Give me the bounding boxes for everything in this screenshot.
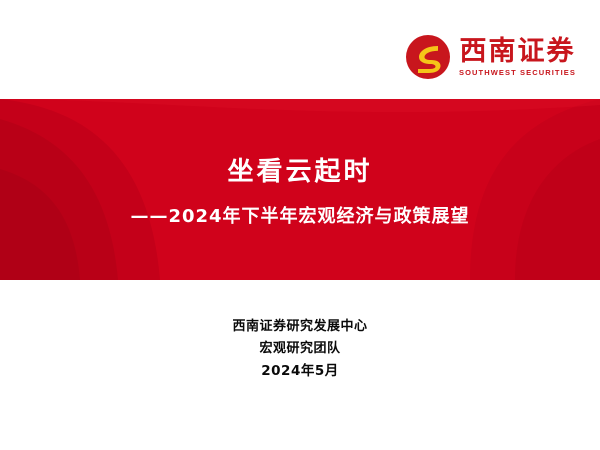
footer-organization: 西南证券研究发展中心 <box>0 316 600 338</box>
banner-decorative-swirls <box>0 99 600 280</box>
slide-subtitle: ——2024年下半年宏观经济与政策展望 <box>0 202 600 228</box>
footer-date: 2024年5月 <box>0 360 600 382</box>
slide-footer: 西南证券研究发展中心 宏观研究团队 2024年5月 <box>0 316 600 382</box>
presentation-cover-slide: 西南证券 SOUTHWEST SECURITIES 坐看云起时 ——2024年下… <box>0 0 600 450</box>
logo-text: 西南证券 SOUTHWEST SECURITIES <box>459 38 576 77</box>
footer-team: 宏观研究团队 <box>0 338 600 360</box>
company-logo: 西南证券 SOUTHWEST SECURITIES <box>405 34 576 80</box>
title-banner: 坐看云起时 ——2024年下半年宏观经济与政策展望 <box>0 99 600 280</box>
logo-company-name-cn: 西南证券 <box>459 38 575 65</box>
slide-title: 坐看云起时 <box>0 151 600 188</box>
logo-company-name-en: SOUTHWEST SECURITIES <box>459 69 576 77</box>
southwest-securities-logo-mark <box>405 34 451 80</box>
